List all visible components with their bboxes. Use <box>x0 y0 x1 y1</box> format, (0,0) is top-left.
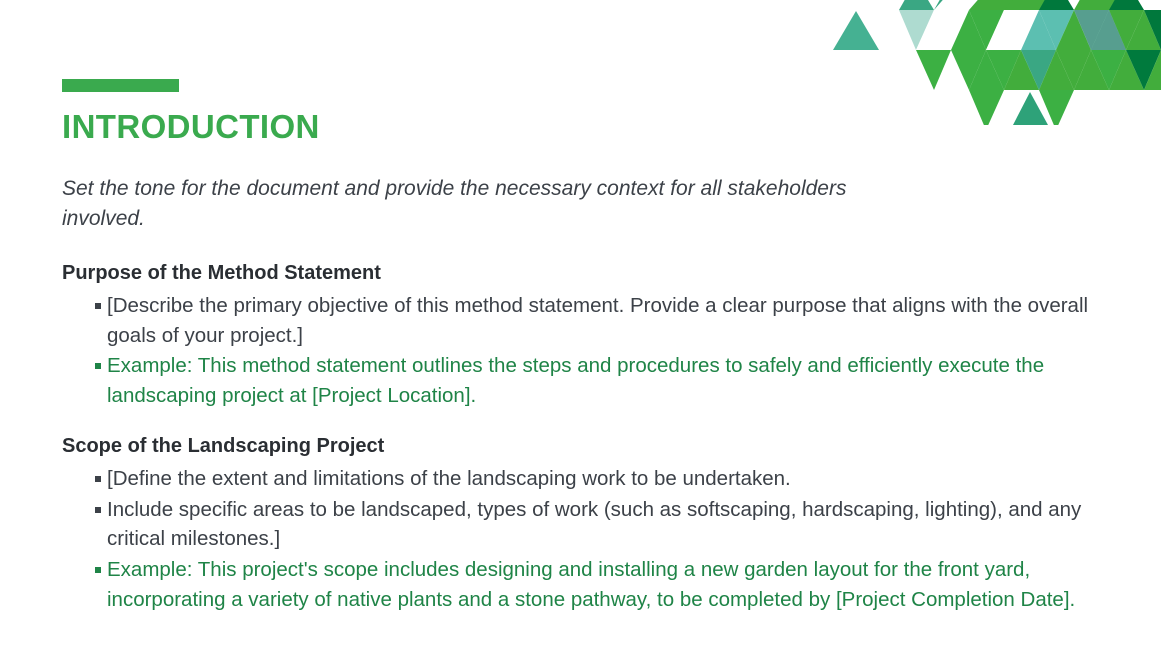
bullet-list: [Describe the primary objective of this … <box>62 291 1132 411</box>
list-item-text: [Define the extent and limitations of th… <box>107 467 791 490</box>
section-heading: Scope of the Landscaping Project <box>62 433 1132 460</box>
list-item: Include specific areas to be landscaped,… <box>62 495 1132 554</box>
document-page: INTRODUCTION Set the tone for the docume… <box>0 0 1161 654</box>
accent-bar <box>62 79 179 92</box>
sections-container: Purpose of the Method Statement[Describe… <box>62 260 1132 615</box>
triangle-teal-lone-bottom <box>1013 92 1048 125</box>
list-item: Example: This method statement outlines … <box>62 351 1132 410</box>
triangle-lighttealhead <box>899 10 934 50</box>
section: Purpose of the Method Statement[Describe… <box>62 260 1132 411</box>
square-bullet-icon <box>95 476 101 482</box>
list-item-text: Include specific areas to be landscaped,… <box>107 498 1081 551</box>
square-bullet-icon <box>95 507 101 513</box>
page-subtitle: Set the tone for the document and provid… <box>62 174 922 234</box>
page-title: INTRODUCTION <box>62 107 320 147</box>
square-bullet-icon <box>95 303 101 309</box>
triangle-teal-isolated <box>833 11 879 50</box>
list-item: [Define the extent and limitations of th… <box>62 464 1132 494</box>
list-item-text: [Describe the primary objective of this … <box>107 294 1088 347</box>
bullet-list: [Define the extent and limitations of th… <box>62 464 1132 615</box>
list-item-text: Example: This project's scope includes d… <box>107 558 1075 611</box>
section-heading: Purpose of the Method Statement <box>62 260 1132 287</box>
triangle-mosaic-decoration <box>820 0 1161 125</box>
list-item: [Describe the primary objective of this … <box>62 291 1132 350</box>
list-item-text: Example: This method statement outlines … <box>107 354 1044 407</box>
square-bullet-icon <box>95 363 101 369</box>
section: Scope of the Landscaping Project[Define … <box>62 433 1132 615</box>
square-bullet-icon <box>95 567 101 573</box>
list-item: Example: This project's scope includes d… <box>62 555 1132 614</box>
